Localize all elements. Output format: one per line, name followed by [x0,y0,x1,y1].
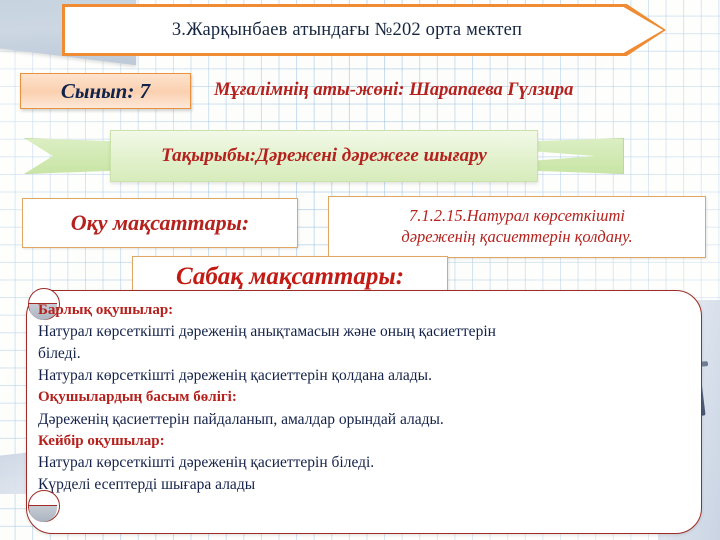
slide-canvas: 3.Жарқынбаев атындағы №202 орта мектеп С… [0,0,720,540]
objective-line: Дәреженің қасиеттерін пайдаланып, амалда… [38,409,628,431]
objectives-list: Барлық оқушылар:Натурал көрсеткішті дәре… [38,300,628,526]
learning-objective-desc-line: дәреженің қасиеттерін қолдану. [401,227,632,248]
objective-line: Натурал көрсеткішті дәреженің қасиеттері… [38,365,628,387]
school-title-banner-inner: 3.Жарқынбаев атындағы №202 орта мектеп [65,7,663,53]
topic-ribbon: Тақырыбы:Дәрежені дәрежеге шығару [24,124,624,186]
teacher-name-text: Мұғалімнің аты-жөні: Шарапаева Гүлзира [214,80,573,101]
learning-objectives-value-box: 7.1.2.15.Натурал көрсеткішті дәреженің қ… [328,196,706,258]
topic-text: Тақырыбы:Дәрежені дәрежеге шығару [161,145,487,167]
objective-line: Натурал көрсеткішті дәреженің анықтамасы… [38,321,628,343]
objective-line: біледі. [38,343,628,365]
class-badge: Сынып: 7 [20,73,191,109]
learning-objective-code-line: 7.1.2.15.Натурал көрсеткішті [409,206,625,227]
topic-ribbon-body: Тақырыбы:Дәрежені дәрежеге шығару [110,130,538,182]
objective-group-heading: Барлық оқушылар: [38,300,628,321]
objective-group-heading: Оқушылардың басым бөлігі: [38,387,628,408]
class-badge-label: Сынып: 7 [61,79,150,104]
objective-line: Күрделі есептерді шығара алады [38,474,628,496]
school-title-text: 3.Жарқынбаев атындағы №202 орта мектеп [172,20,522,41]
objective-line: Натурал көрсеткішті дәреженің қасиеттері… [38,452,628,474]
teacher-name-row: Мұғалімнің аты-жөні: Шарапаева Гүлзира [214,75,714,105]
learning-objectives-label-text: Оқу мақсаттары: [71,210,250,236]
lesson-aims-label-text: Сабақ мақсаттары: [176,263,404,291]
objective-group-heading: Кейбір оқушылар: [38,431,628,452]
learning-objectives-label-box: Оқу мақсаттары: [22,198,298,248]
